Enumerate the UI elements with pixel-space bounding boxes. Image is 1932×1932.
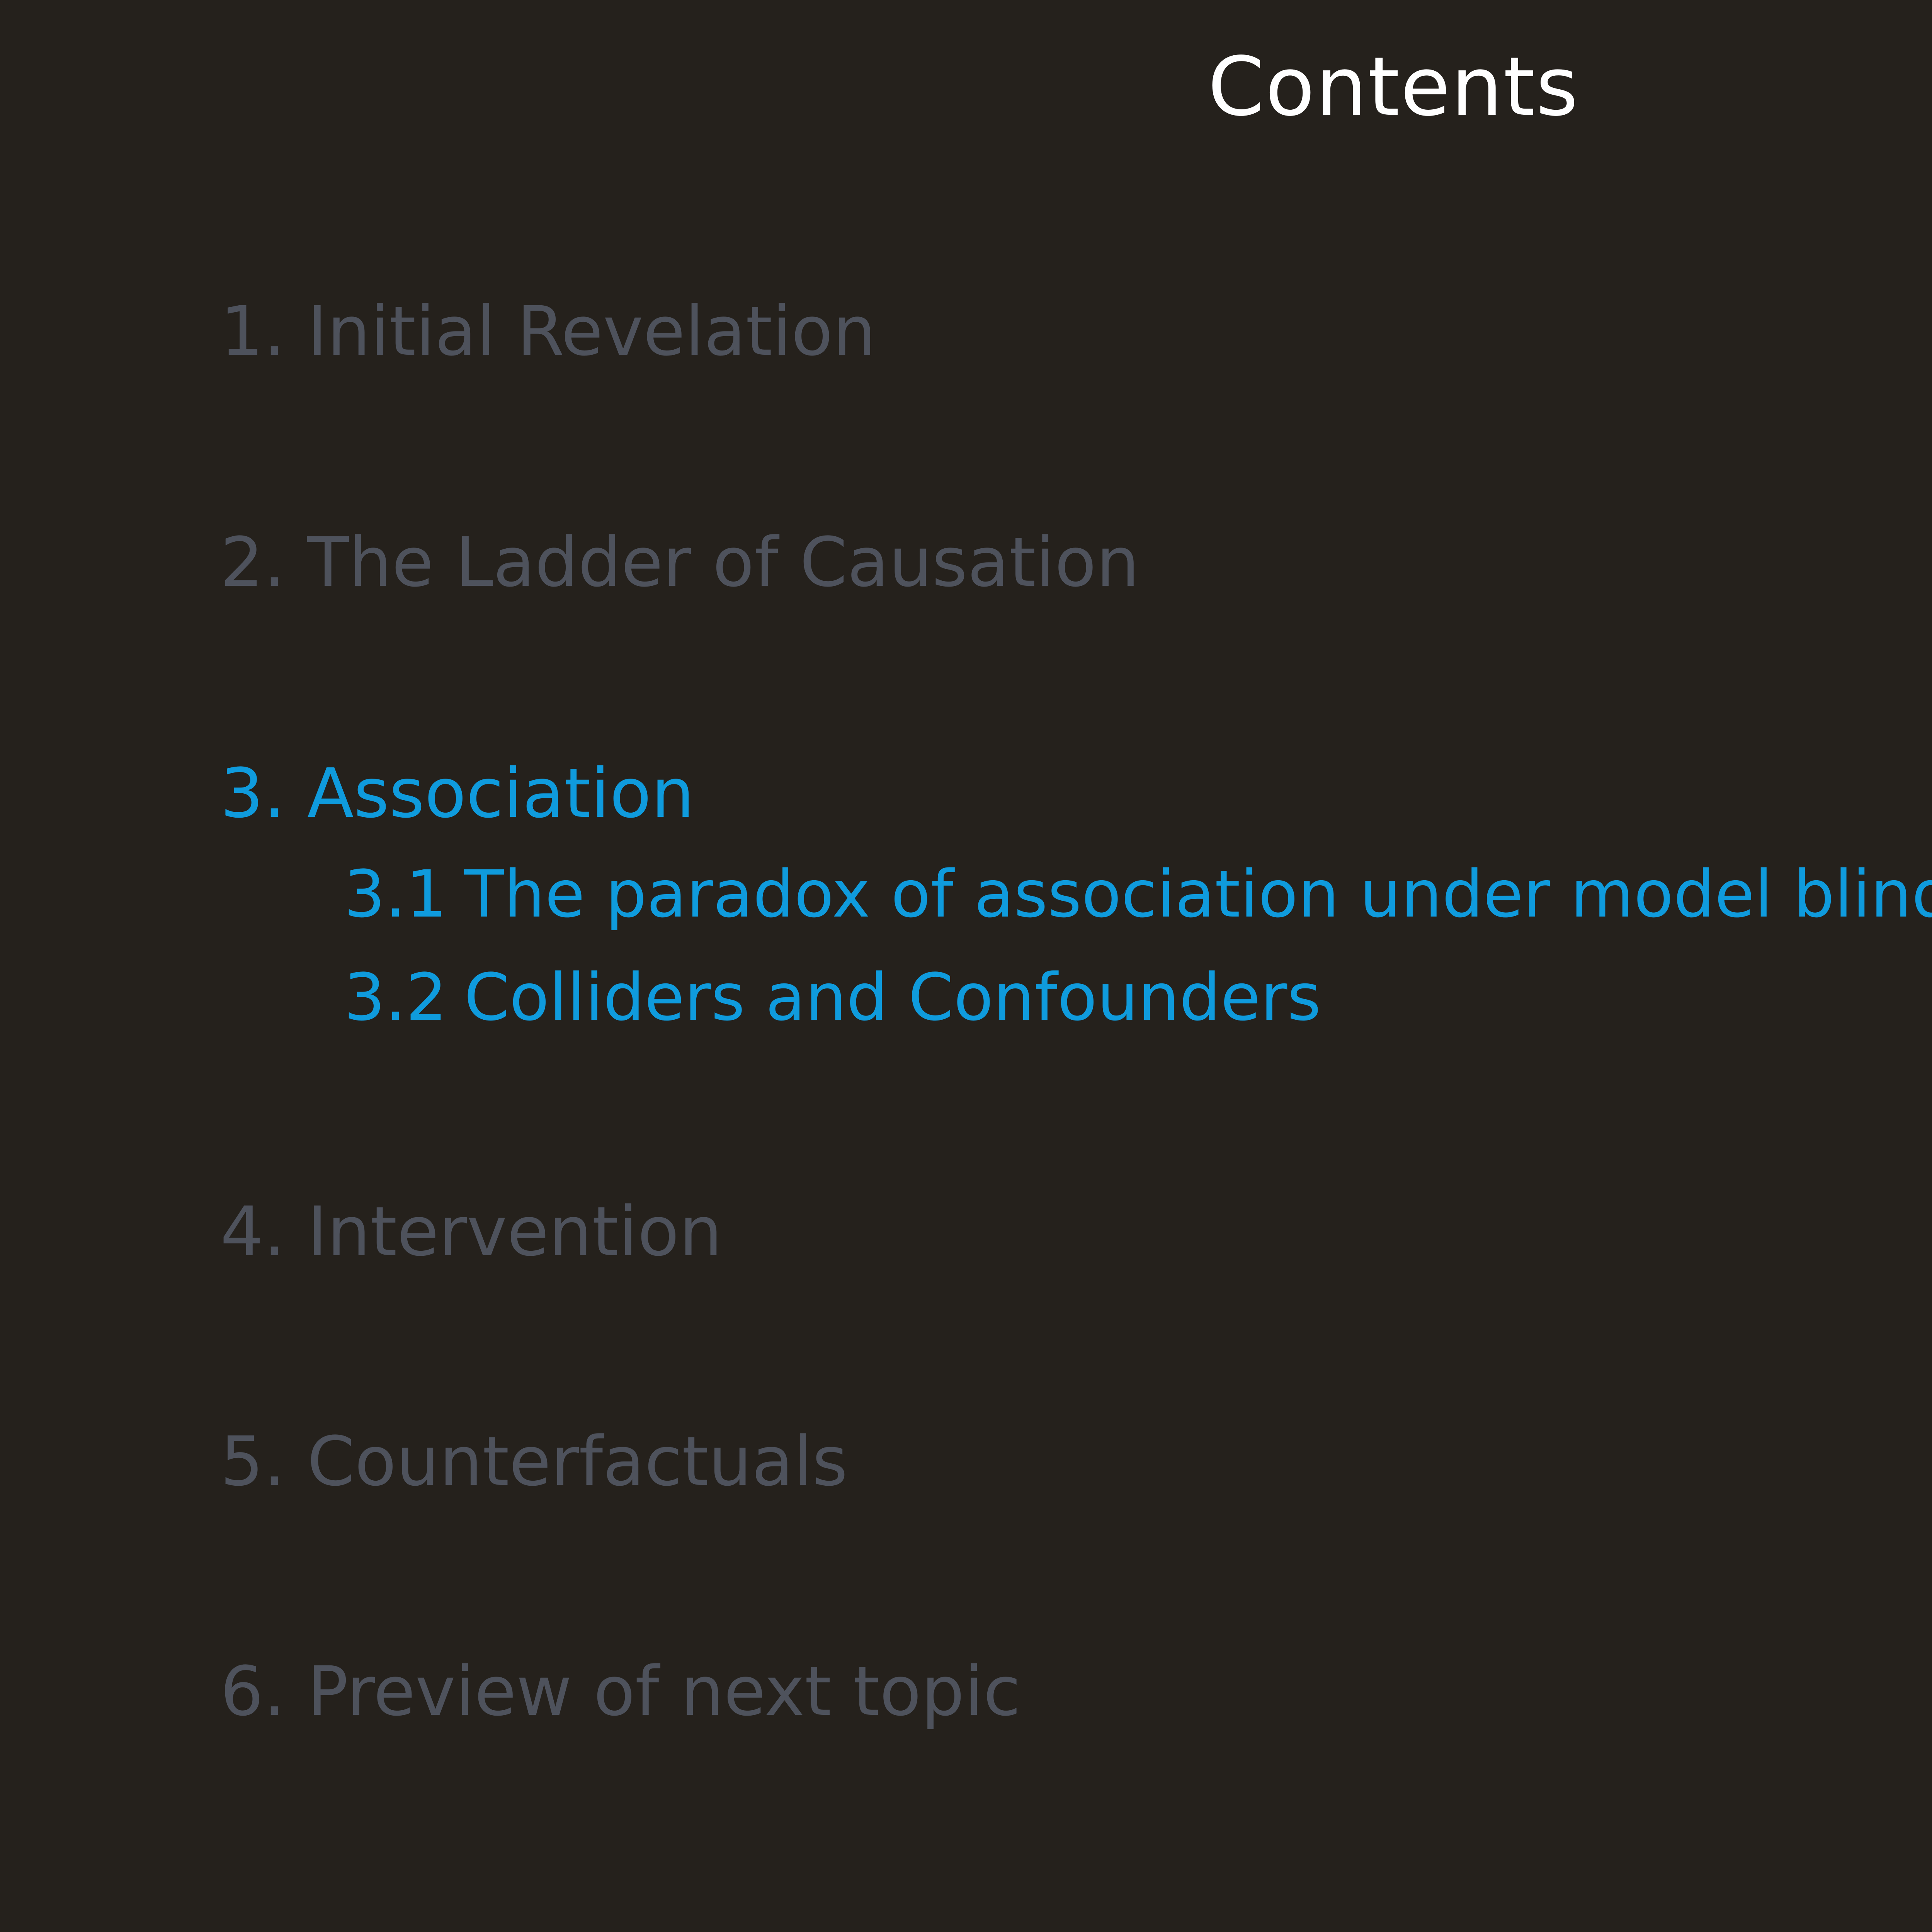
toc-item-5[interactable]: 5.Counterfactuals bbox=[220, 1428, 848, 1496]
toc-item-number: 6. bbox=[220, 1658, 307, 1726]
toc-item-4[interactable]: 4.Intervention bbox=[220, 1198, 722, 1266]
toc-subitem-label: The paradox of association under model b… bbox=[464, 856, 1932, 932]
toc-item-number: 1. bbox=[220, 298, 307, 366]
toc-item-label: Preview of next topic bbox=[307, 1652, 1021, 1731]
toc-subitem-label: Colliders and Confounders bbox=[464, 959, 1321, 1035]
toc-subitem-number: 3.1 bbox=[344, 862, 447, 927]
toc-item-2[interactable]: 2.The Ladder of Causation bbox=[220, 529, 1139, 597]
toc-item-3[interactable]: 3.Association bbox=[220, 760, 694, 828]
toc-subitem-3-2[interactable]: 3.2Colliders and Confounders bbox=[344, 965, 1321, 1030]
presentation-slide: Contents 1.Initial Revelation 2.The Ladd… bbox=[0, 0, 1932, 1932]
toc-item-number: 4. bbox=[220, 1198, 307, 1266]
toc-item-number: 2. bbox=[220, 529, 307, 597]
toc-item-1[interactable]: 1.Initial Revelation bbox=[220, 298, 876, 366]
toc-item-label: The Ladder of Causation bbox=[307, 523, 1139, 602]
toc-item-label: Initial Revelation bbox=[307, 292, 876, 371]
toc-item-label: Counterfactuals bbox=[307, 1422, 848, 1501]
toc-item-6[interactable]: 6.Preview of next topic bbox=[220, 1658, 1021, 1726]
toc-item-label: Intervention bbox=[307, 1192, 722, 1271]
toc-subitem-number: 3.2 bbox=[344, 965, 447, 1030]
table-of-contents: 1.Initial Revelation 2.The Ladder of Cau… bbox=[0, 0, 1932, 1932]
toc-subitem-3-1[interactable]: 3.1The paradox of association under mode… bbox=[344, 862, 1932, 927]
toc-item-number: 3. bbox=[220, 760, 307, 828]
toc-item-label: Association bbox=[307, 754, 694, 833]
toc-item-number: 5. bbox=[220, 1428, 307, 1496]
